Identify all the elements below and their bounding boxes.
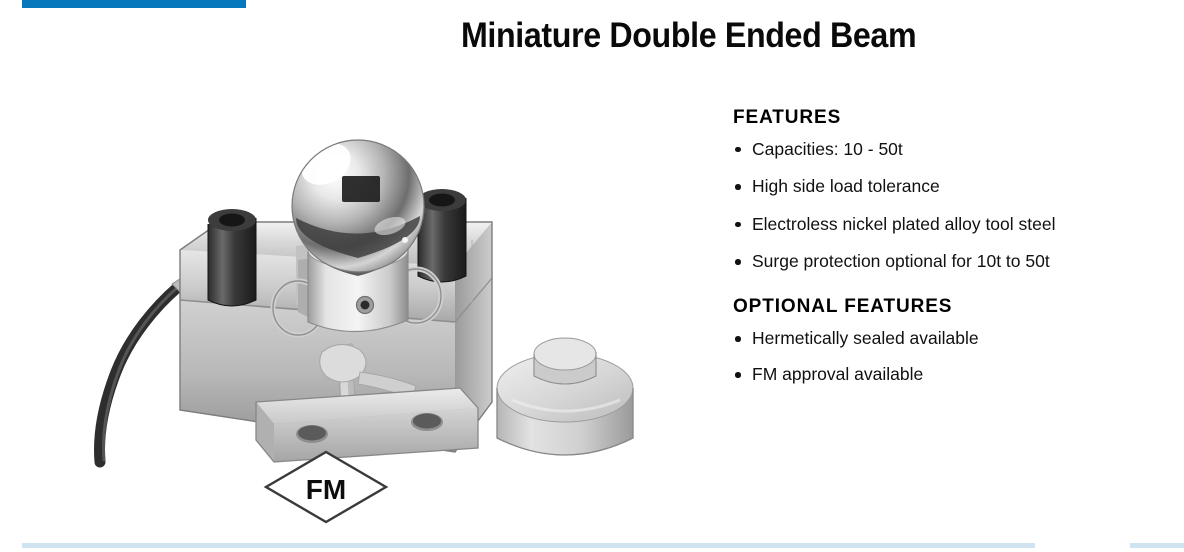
top-accent-bar: [22, 0, 246, 8]
optional-feature-text: FM approval available: [752, 364, 923, 384]
features-list: Capacities: 10 - 50t High side load tole…: [733, 140, 1173, 272]
list-item: Capacities: 10 - 50t: [733, 140, 1173, 159]
list-item: Hermetically sealed available: [733, 329, 1173, 348]
product-photo: [60, 100, 680, 470]
feature-text: High side load tolerance: [752, 176, 940, 196]
list-item: FM approval available: [733, 365, 1173, 384]
socket-cap-right: [418, 189, 466, 282]
list-item: Electroless nickel plated alloy tool ste…: [733, 215, 1173, 234]
feature-text: Surge protection optional for 10t to 50t: [752, 251, 1050, 271]
features-column: FEATURES Capacities: 10 - 50t High side …: [733, 108, 1173, 401]
list-item: High side load tolerance: [733, 177, 1173, 196]
optional-features-list: Hermetically sealed available FM approva…: [733, 329, 1173, 384]
feature-text: Electroless nickel plated alloy tool ste…: [752, 214, 1056, 234]
footer-rule-left: [22, 543, 1035, 548]
load-button-disc: [497, 338, 633, 455]
fm-certification-mark: FM: [262, 448, 390, 526]
optional-features-heading: OPTIONAL FEATURES: [733, 297, 1173, 318]
page-title: Miniature Double Ended Beam: [47, 16, 1136, 56]
list-item: Surge protection optional for 10t to 50t: [733, 252, 1173, 271]
footer-rule-right: [1130, 543, 1184, 548]
socket-cap-left: [208, 209, 256, 306]
optional-feature-text: Hermetically sealed available: [752, 328, 979, 348]
feature-text: Capacities: 10 - 50t: [752, 139, 903, 159]
features-heading: FEATURES: [733, 108, 1173, 129]
fm-label: FM: [306, 474, 346, 505]
